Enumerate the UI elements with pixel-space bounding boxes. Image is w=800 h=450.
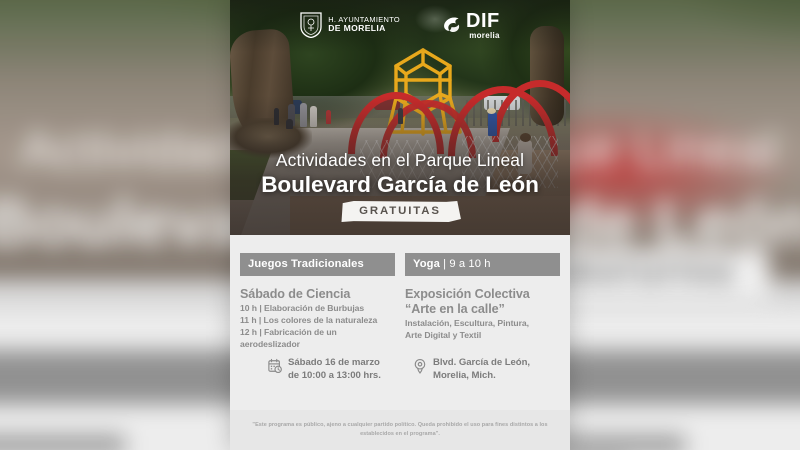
block-line: aerodeslizador bbox=[240, 338, 395, 350]
activity-columns: Juegos Tradicionales Sábado de Ciencia 1… bbox=[240, 253, 560, 351]
free-badge: GRATUITAS bbox=[339, 201, 461, 222]
meta-place-line2: Morelia, Mich. bbox=[433, 370, 530, 383]
column-juegos-tradicionales: Juegos Tradicionales Sábado de Ciencia 1… bbox=[240, 253, 395, 351]
disclaimer-text: "Este programa es público, ajeno a cualq… bbox=[250, 421, 550, 439]
morelia-coat-of-arms-icon bbox=[300, 12, 322, 38]
block-heading: Sábado de Ciencia bbox=[240, 287, 395, 302]
block-exposicion-colectiva: Exposición Colectiva “Arte en la calle” … bbox=[405, 287, 560, 341]
morelia-city-logo: H. AYUNTAMIENTO DE MORELIA bbox=[300, 12, 400, 38]
category-bar-left-title: Juegos Tradicionales bbox=[248, 258, 364, 270]
poster-body: Juegos Tradicionales Sábado de Ciencia 1… bbox=[230, 235, 570, 450]
poster-title: Actividades en el Parque Lineal Boulevar… bbox=[230, 150, 570, 198]
meta-place-text: Blvd. García de León, Morelia, Mich. bbox=[433, 357, 530, 383]
block-sabado-de-ciencia: Sábado de Ciencia 10 h | Elaboración de … bbox=[240, 287, 395, 351]
meta-date-line1: Sábado 16 de marzo bbox=[288, 357, 381, 370]
category-bar-left: Juegos Tradicionales bbox=[240, 253, 395, 276]
free-badge-wrap: GRATUITAS bbox=[230, 201, 570, 222]
title-line1: Actividades en el Parque Lineal bbox=[230, 150, 570, 171]
block-line: 11 h | Los colores de la naturaleza bbox=[240, 314, 395, 326]
column-yoga: Yoga | 9 a 10 h Exposición Colectiva “Ar… bbox=[405, 253, 560, 351]
dif-logo-sub: morelia bbox=[466, 32, 500, 40]
meta-place-line1: Blvd. García de León, bbox=[433, 357, 530, 370]
meta-date: Sábado 16 de marzo de 10:00 a 13:00 hrs. bbox=[240, 357, 395, 383]
category-bar-right: Yoga | 9 a 10 h bbox=[405, 253, 560, 276]
block-heading-2: “Arte en la calle” bbox=[405, 302, 560, 317]
category-bar-right-time: | 9 a 10 h bbox=[440, 258, 491, 270]
block-line: 10 h | Elaboración de Burbujas bbox=[240, 302, 395, 314]
backdrop-line bbox=[0, 435, 125, 450]
block-heading: Exposición Colectiva bbox=[405, 287, 560, 302]
meta-date-line2: de 10:00 a 13:00 hrs. bbox=[288, 370, 381, 383]
meta-place: Blvd. García de León, Morelia, Mich. bbox=[405, 357, 560, 383]
morelia-logo-line2: DE MORELIA bbox=[328, 24, 400, 33]
dove-icon bbox=[442, 16, 462, 34]
title-line2: Boulevard García de León bbox=[230, 172, 570, 198]
block-line: Arte Digital y Textil bbox=[405, 329, 560, 341]
poster-card: H. AYUNTAMIENTO DE MORELIA DIF morelia A… bbox=[230, 0, 570, 450]
calendar-clock-icon bbox=[268, 358, 282, 374]
meta-row: Sábado 16 de marzo de 10:00 a 13:00 hrs.… bbox=[240, 357, 560, 383]
meta-date-text: Sábado 16 de marzo de 10:00 a 13:00 hrs. bbox=[288, 357, 381, 383]
block-line: 12 h | Fabricación de un bbox=[240, 326, 395, 338]
block-line: Instalación, Escultura, Pintura, bbox=[405, 317, 560, 329]
location-pin-icon bbox=[413, 358, 427, 374]
dif-logo: DIF morelia bbox=[442, 11, 500, 40]
dif-logo-name: DIF bbox=[466, 11, 500, 31]
disclaimer-bar: "Este programa es público, ajeno a cualq… bbox=[230, 410, 570, 450]
logo-row: H. AYUNTAMIENTO DE MORELIA DIF morelia bbox=[230, 8, 570, 42]
category-bar-right-title: Yoga bbox=[413, 258, 440, 270]
